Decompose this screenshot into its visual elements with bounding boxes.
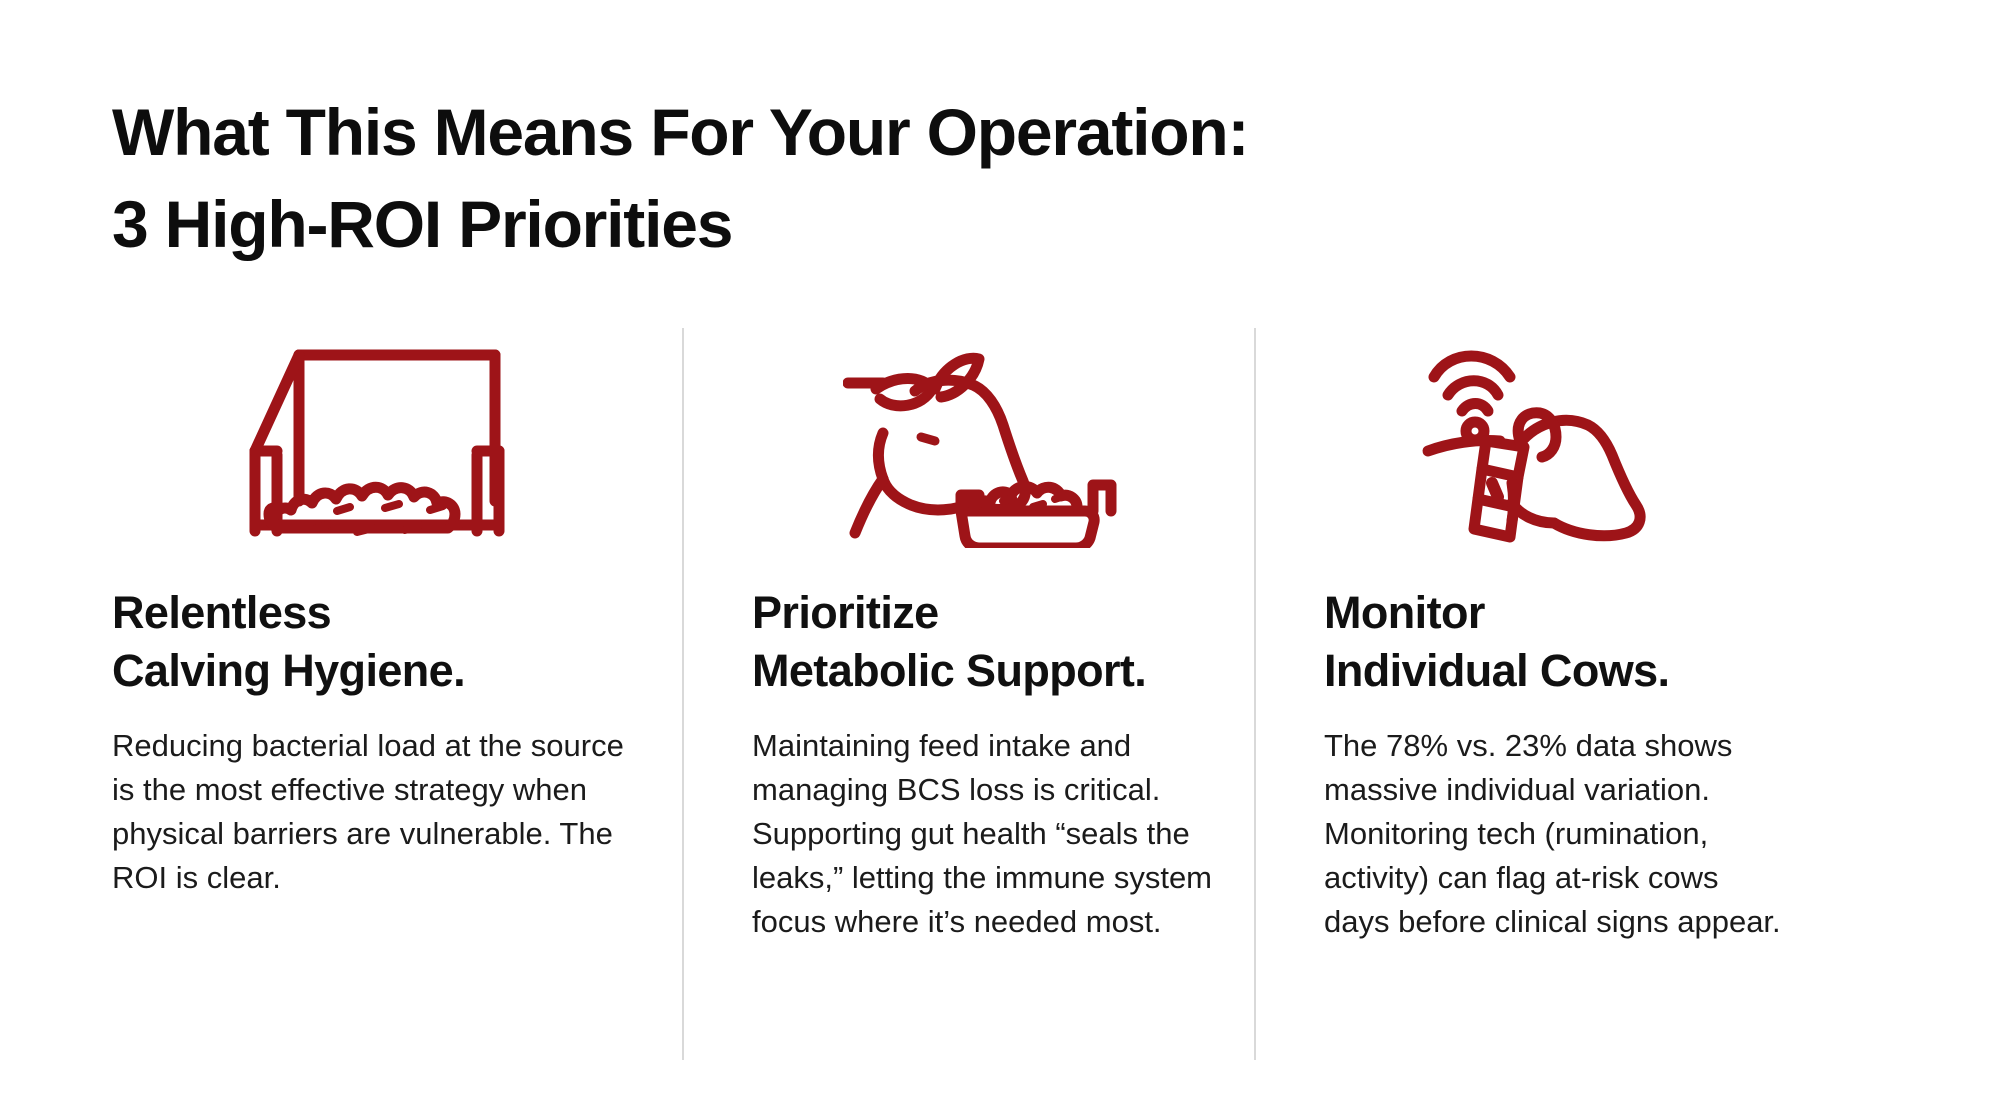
title-line-1: What This Means For Your Operation:	[112, 86, 1912, 178]
priority-3-heading-line-2: Individual Cows.	[1324, 642, 1786, 700]
priority-3-heading: Monitor Individual Cows.	[1324, 584, 1786, 700]
priority-2-heading: Prioritize Metabolic Support.	[752, 584, 1214, 700]
page-title: What This Means For Your Operation: 3 Hi…	[112, 86, 1912, 270]
priorities-columns: Relentless Calving Hygiene. Reducing bac…	[112, 330, 1912, 1060]
priority-1-body: Reducing bacterial load at the source is…	[112, 724, 642, 900]
slide-root: What This Means For Your Operation: 3 Hi…	[0, 0, 2000, 1116]
priority-1-heading-line-1: Relentless	[112, 584, 642, 642]
priority-2-heading-line-1: Prioritize	[752, 584, 1214, 642]
cow-monitoring-collar-signal-icon	[1324, 330, 1786, 550]
cow-eating-feed-trough-icon	[752, 330, 1214, 550]
priority-1-heading: Relentless Calving Hygiene.	[112, 584, 642, 700]
priority-2-heading-line-2: Metabolic Support.	[752, 642, 1214, 700]
priority-column-3: Monitor Individual Cows. The 78% vs. 23%…	[1256, 330, 1826, 944]
priority-3-heading-line-1: Monitor	[1324, 584, 1786, 642]
priority-2-body: Maintaining feed intake and managing BCS…	[752, 724, 1214, 944]
priority-column-2: Prioritize Metabolic Support. Maintainin…	[684, 330, 1254, 944]
calving-pen-bedding-icon	[112, 330, 642, 550]
priority-1-heading-line-2: Calving Hygiene.	[112, 642, 642, 700]
priority-column-1: Relentless Calving Hygiene. Reducing bac…	[112, 330, 682, 900]
priority-3-body: The 78% vs. 23% data shows massive indiv…	[1324, 724, 1786, 944]
title-line-2: 3 High-ROI Priorities	[112, 178, 1912, 270]
